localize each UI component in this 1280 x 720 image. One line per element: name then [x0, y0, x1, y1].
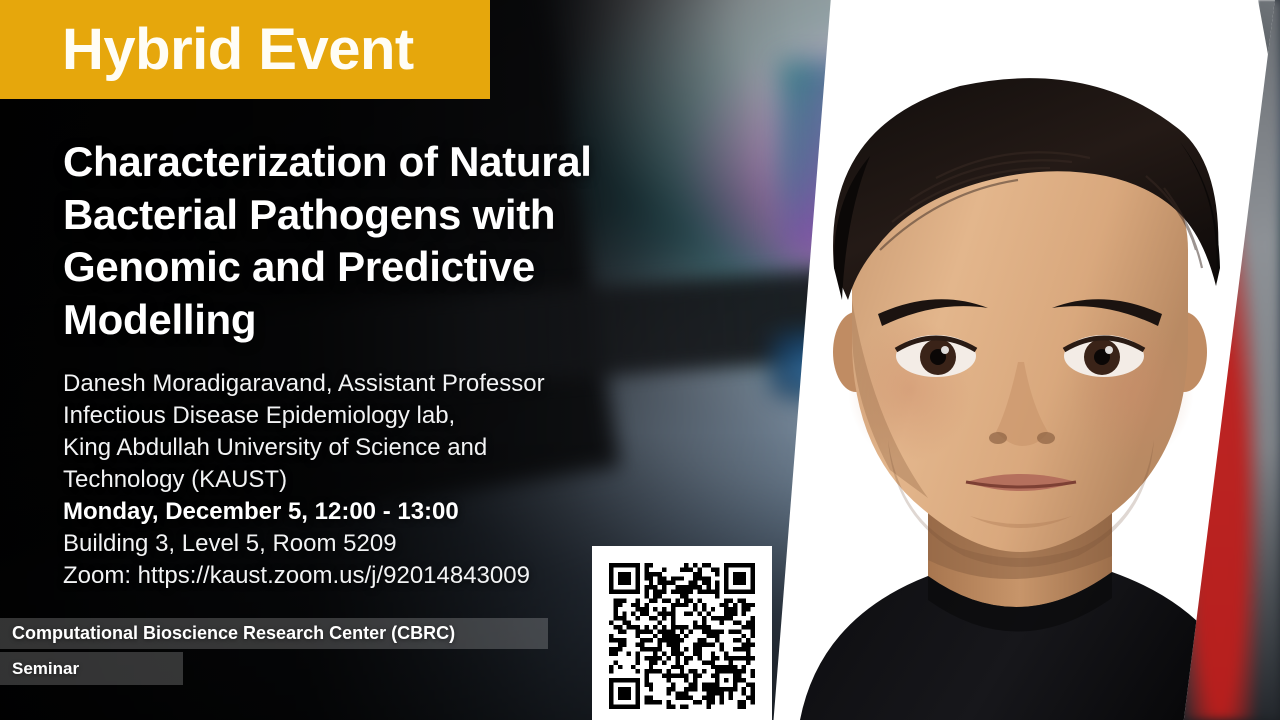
speaker-affiliation-line1: King Abdullah University of Science and	[63, 432, 703, 464]
hybrid-event-label: Hybrid Event	[62, 21, 414, 79]
event-poster: Hybrid Event Characterization of Natural…	[0, 0, 1280, 720]
center-tag-label: Computational Bioscience Research Center…	[12, 623, 455, 644]
qr-code-card[interactable]	[592, 546, 772, 720]
event-datetime: Monday, December 5, 12:00 - 13:00	[63, 496, 703, 528]
talk-title: Characterization of Natural Bacterial Pa…	[63, 136, 663, 346]
speaker-lab: Infectious Disease Epidemiology lab,	[63, 400, 703, 432]
event-type-label: Seminar	[12, 659, 79, 679]
event-type-tag-bar: Seminar	[0, 652, 183, 685]
hybrid-event-banner: Hybrid Event	[0, 0, 490, 99]
speaker-affiliation-line2: Technology (KAUST)	[63, 464, 703, 496]
center-tag-bar: Computational Bioscience Research Center…	[0, 618, 548, 649]
speaker-name-title: Danesh Moradigaravand, Assistant Profess…	[63, 368, 703, 400]
poster-text-column: Characterization of Natural Bacterial Pa…	[63, 136, 703, 592]
qr-code-icon[interactable]	[609, 563, 755, 709]
